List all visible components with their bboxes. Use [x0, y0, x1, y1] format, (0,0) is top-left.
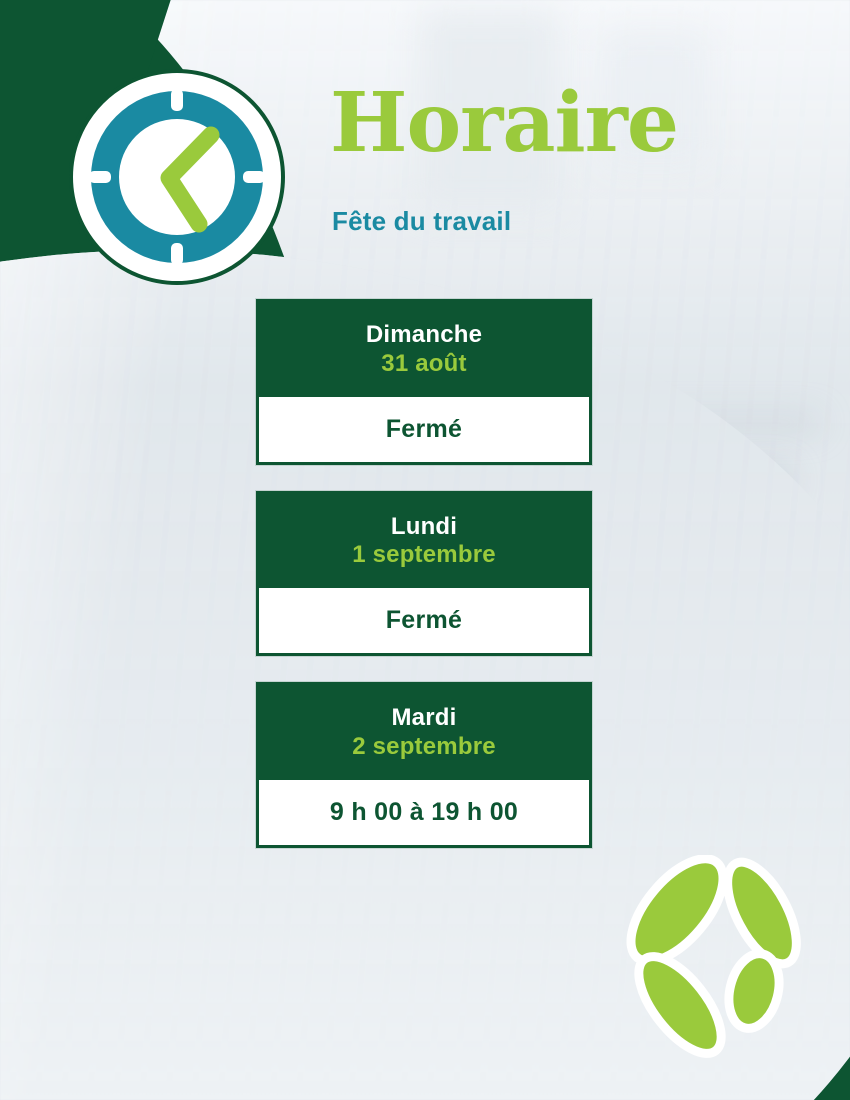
schedule-date: 1 septembre [266, 540, 582, 570]
schedule-card: Mardi 2 septembre 9 h 00 à 19 h 00 [256, 682, 592, 848]
schedule-date: 2 septembre [266, 732, 582, 762]
schedule-card: Dimanche 31 août Fermé [256, 299, 592, 465]
schedule-card-header: Lundi 1 septembre [256, 491, 592, 589]
schedule-hours: Fermé [267, 606, 581, 635]
schedule-list: Dimanche 31 août Fermé Lundi 1 septembre… [256, 299, 592, 874]
schedule-day: Lundi [266, 513, 582, 541]
page-subtitle: Fête du travail [332, 206, 511, 237]
schedule-card-header: Dimanche 31 août [256, 299, 592, 397]
schedule-card-body: 9 h 00 à 19 h 00 [256, 780, 592, 848]
clock-icon [68, 68, 286, 286]
butterfly-logo [612, 855, 832, 1065]
schedule-hours: 9 h 00 à 19 h 00 [267, 798, 581, 827]
schedule-card-body: Fermé [256, 588, 592, 656]
schedule-date: 31 août [266, 349, 582, 379]
schedule-day: Mardi [266, 704, 582, 732]
page-title: Horaire [330, 82, 678, 164]
schedule-day: Dimanche [266, 321, 582, 349]
schedule-poster: Horaire Fête du travail Dimanche 31 août… [0, 0, 850, 1100]
schedule-hours: Fermé [267, 415, 581, 444]
schedule-card-body: Fermé [256, 397, 592, 465]
schedule-card-header: Mardi 2 septembre [256, 682, 592, 780]
schedule-card: Lundi 1 septembre Fermé [256, 491, 592, 657]
